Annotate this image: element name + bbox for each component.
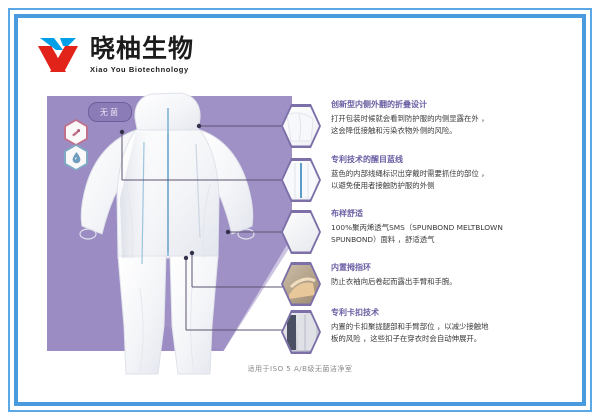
brand-wordmark: 晓柚生物 Xiao You Biotechnology [90,36,194,73]
annotation-line: 板的风险 ，这些扣子在穿衣时会自动伸展开。 [331,333,546,345]
annotation-title: 布样舒适 [331,209,546,220]
poster-canvas: 晓柚生物 Xiao You Biotechnology 无菌 [0,0,600,420]
annotation-line: 以避免使用者接触防护服的外侧 [331,180,546,192]
annotation-block: 专利技术的醒目蓝线 蓝色的内部线绳标识出穿戴时需要抓住的部位 ， 以避免使用者接… [331,155,546,192]
brand-name-cn: 晓柚生物 [90,36,194,62]
annotation-title: 创新型内侧外翻的折叠设计 [331,100,546,111]
annotation-title: 内置拇指环 [331,263,546,274]
brand-name-en: Xiao You Biotechnology [90,65,194,74]
annotation-line: 内置的卡扣聚拢腿部和手臂部位 ，以减少接触地 [331,321,546,333]
status-badge-sterile: 无菌 [88,102,132,122]
annotation-block: 创新型内侧外翻的折叠设计 打开包装时候就会看到防护服的内侧显露在外 ， 这会降低… [331,100,546,137]
annotation-block: 布样舒适 100%聚丙烯透气SMS（SPUNBOND MELTBLOWN SPU… [331,209,546,246]
annotation-block: 专利卡扣技术 内置的卡扣聚拢腿部和手臂部位 ，以减少接触地 板的风险 ，这些扣子… [331,308,546,345]
brand-header: 晓柚生物 Xiao You Biotechnology [34,32,194,78]
annotation-block: 内置拇指环 防止衣袖向后卷起而露出手臂和手腕。 [331,263,546,288]
annotation-title: 专利卡扣技术 [331,308,546,319]
annotation-line: 100%聚丙烯透气SMS（SPUNBOND MELTBLOWN [331,222,546,234]
annotation-line: SPUNBOND）面料 ，舒适透气 [331,234,546,246]
annotation-line: 这会降低接触和污染衣物外侧的风险。 [331,125,546,137]
annotation-title: 专利技术的醒目蓝线 [331,155,546,166]
coverall-illustration [78,88,258,378]
x-mark-logo-icon [34,34,82,76]
annotation-line: 蓝色的内部线绳标识出穿戴时需要抓住的部位 ， [331,168,546,180]
annotation-line: 防止衣袖向后卷起而露出手臂和手腕。 [331,276,546,288]
annotation-line: 打开包装时候就会看到防护服的内侧显露在外 ， [331,113,546,125]
